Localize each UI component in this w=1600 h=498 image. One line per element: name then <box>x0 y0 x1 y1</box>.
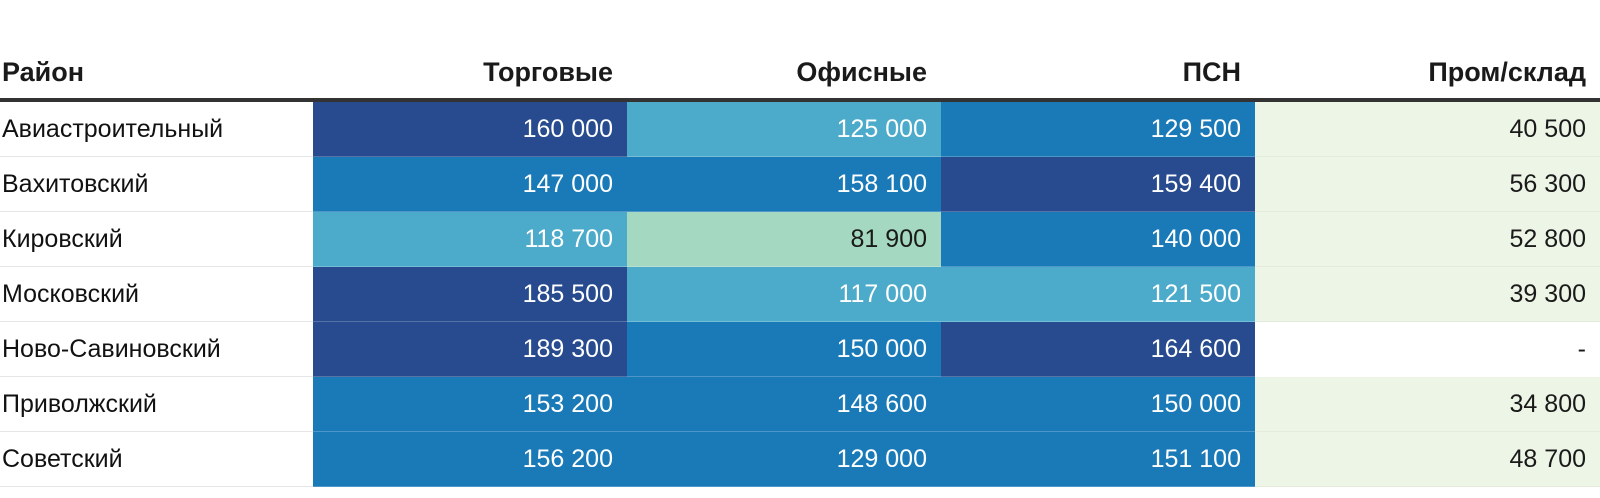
header-row: Район Торговые Офисные ПСН Пром/склад <box>0 0 1600 100</box>
column-header-industrial[interactable]: Пром/склад <box>1255 0 1600 100</box>
table-row: Кировский118 70081 900140 00052 800 <box>0 212 1600 267</box>
table-row: Вахитовский147 000158 100159 40056 300 <box>0 157 1600 212</box>
retail-value-cell: 160 000 <box>313 100 627 157</box>
office-value-cell: 81 900 <box>627 212 941 267</box>
retail-value-cell: 185 500 <box>313 267 627 322</box>
table-body: Авиастроительный160 000125 000129 50040 … <box>0 100 1600 487</box>
psn-value-cell: 159 400 <box>941 157 1255 212</box>
region-name-cell: Кировский <box>0 212 313 267</box>
retail-value-cell: 156 200 <box>313 432 627 487</box>
office-value-cell: 117 000 <box>627 267 941 322</box>
column-header-region[interactable]: Район <box>0 0 313 100</box>
office-value-cell: 125 000 <box>627 100 941 157</box>
table-row: Советский156 200129 000151 10048 700 <box>0 432 1600 487</box>
industrial-value-cell: 52 800 <box>1255 212 1600 267</box>
retail-value-cell: 147 000 <box>313 157 627 212</box>
region-name-cell: Советский <box>0 432 313 487</box>
region-name-cell: Приволжский <box>0 377 313 432</box>
office-value-cell: 158 100 <box>627 157 941 212</box>
retail-value-cell: 153 200 <box>313 377 627 432</box>
psn-value-cell: 121 500 <box>941 267 1255 322</box>
retail-value-cell: 118 700 <box>313 212 627 267</box>
region-name-cell: Авиастроительный <box>0 100 313 157</box>
industrial-value-cell: 40 500 <box>1255 100 1600 157</box>
psn-value-cell: 150 000 <box>941 377 1255 432</box>
office-value-cell: 148 600 <box>627 377 941 432</box>
district-price-heatmap-table: Район Торговые Офисные ПСН Пром/склад Ав… <box>0 0 1600 487</box>
industrial-value-cell: 48 700 <box>1255 432 1600 487</box>
office-value-cell: 150 000 <box>627 322 941 377</box>
psn-value-cell: 140 000 <box>941 212 1255 267</box>
heatmap-table-container: Район Торговые Офисные ПСН Пром/склад Ав… <box>0 0 1600 498</box>
table-row: Московский185 500117 000121 50039 300 <box>0 267 1600 322</box>
office-value-cell: 129 000 <box>627 432 941 487</box>
table-header: Район Торговые Офисные ПСН Пром/склад <box>0 0 1600 100</box>
column-header-office[interactable]: Офисные <box>627 0 941 100</box>
industrial-value-cell: - <box>1255 322 1600 377</box>
retail-value-cell: 189 300 <box>313 322 627 377</box>
region-name-cell: Московский <box>0 267 313 322</box>
table-row: Приволжский153 200148 600150 00034 800 <box>0 377 1600 432</box>
psn-value-cell: 129 500 <box>941 100 1255 157</box>
table-row: Ново-Савиновский189 300150 000164 600- <box>0 322 1600 377</box>
industrial-value-cell: 56 300 <box>1255 157 1600 212</box>
column-header-retail[interactable]: Торговые <box>313 0 627 100</box>
psn-value-cell: 151 100 <box>941 432 1255 487</box>
region-name-cell: Вахитовский <box>0 157 313 212</box>
psn-value-cell: 164 600 <box>941 322 1255 377</box>
industrial-value-cell: 34 800 <box>1255 377 1600 432</box>
column-header-psn[interactable]: ПСН <box>941 0 1255 100</box>
region-name-cell: Ново-Савиновский <box>0 322 313 377</box>
industrial-value-cell: 39 300 <box>1255 267 1600 322</box>
table-row: Авиастроительный160 000125 000129 50040 … <box>0 100 1600 157</box>
